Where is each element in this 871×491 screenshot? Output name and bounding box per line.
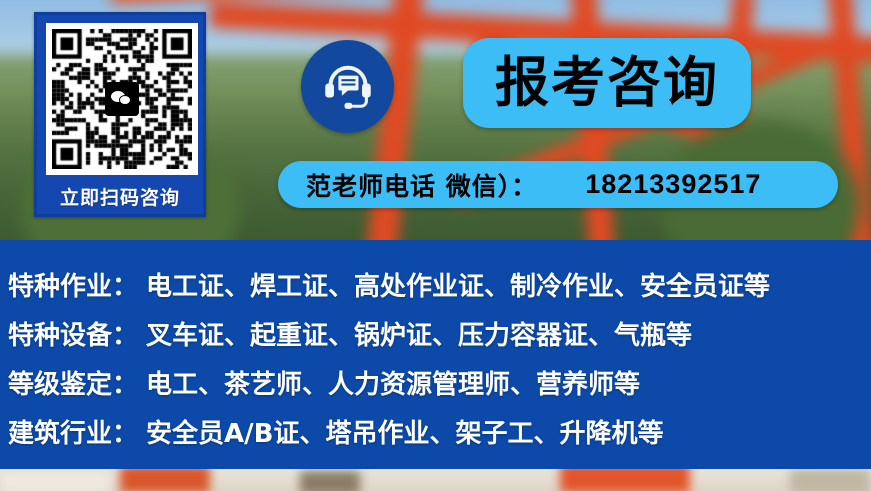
- service-row: 等级鉴定： 电工、茶艺师、人力资源管理师、营养师等: [0, 360, 871, 405]
- service-category-label: 特种作业：: [8, 266, 138, 303]
- bottom-photo-strip: [0, 469, 871, 491]
- contact-badge[interactable]: 范老师电话 微信）： 18213392517: [278, 161, 838, 208]
- title-badge: 报考咨询: [463, 38, 751, 128]
- wechat-icon: [105, 82, 139, 116]
- service-category-label: 特种设备：: [8, 315, 138, 352]
- service-items: 安全员A/B证、塔吊作业、架子工、升降机等: [146, 413, 663, 450]
- service-items: 叉车证、起重证、锅炉证、压力容器证、气瓶等: [146, 315, 692, 352]
- service-category-label: 等级鉴定：: [8, 364, 138, 401]
- contact-label: 范老师电话 微信）：: [306, 167, 537, 203]
- service-items: 电工证、焊工证、高处作业证、制冷作业、安全员证等: [146, 266, 770, 303]
- service-row: 建筑行业： 安全员A/B证、塔吊作业、架子工、升降机等: [0, 409, 871, 454]
- qr-code-card[interactable]: 立即扫码咨询: [34, 12, 206, 217]
- phone-number[interactable]: 18213392517: [585, 169, 761, 200]
- promo-poster: 立即扫码咨询 报考咨询 范老师电话 微信）： 18213392517 特种作业：…: [0, 0, 871, 491]
- headset-support-icon: [301, 40, 394, 133]
- service-items: 电工、茶艺师、人力资源管理师、营养师等: [146, 364, 640, 401]
- service-row: 特种作业： 电工证、焊工证、高处作业证、制冷作业、安全员证等: [0, 262, 871, 307]
- title-text: 报考咨询: [495, 56, 719, 110]
- service-category-label: 建筑行业：: [8, 413, 138, 450]
- qr-code-image[interactable]: [46, 23, 198, 175]
- service-list-block: 特种作业： 电工证、焊工证、高处作业证、制冷作业、安全员证等 特种设备： 叉车证…: [0, 240, 871, 469]
- service-row: 特种设备： 叉车证、起重证、锅炉证、压力容器证、气瓶等: [0, 311, 871, 356]
- qr-caption: 立即扫码咨询: [37, 183, 203, 210]
